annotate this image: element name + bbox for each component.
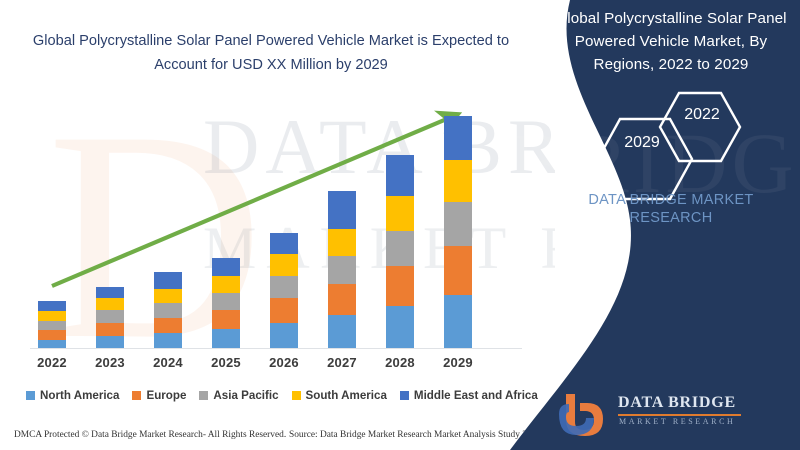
bar-segment [270, 298, 298, 322]
bar-segment [96, 310, 124, 322]
bar-2022 [38, 301, 66, 348]
x-axis-label-2023: 2023 [80, 355, 140, 370]
hexagon-group: 2029 2022 [595, 98, 775, 183]
legend-swatch-icon [26, 391, 35, 400]
stacked-bar-chart: 20222023202420252026202720282029 [0, 0, 545, 450]
bar-segment [444, 116, 472, 160]
bar-segment [212, 310, 240, 329]
x-axis-label-2029: 2029 [428, 355, 488, 370]
bar-segment [154, 289, 182, 303]
x-axis-label-2024: 2024 [138, 355, 198, 370]
bar-segment [444, 202, 472, 245]
legend-item-south-america[interactable]: South America [292, 389, 387, 402]
logo-b-mark-icon [556, 392, 614, 438]
bar-2023 [96, 287, 124, 348]
hexagon-2022-label: 2022 [672, 106, 732, 124]
legend-label: North America [40, 389, 119, 402]
bar-2026 [270, 233, 298, 348]
bar-segment [154, 303, 182, 318]
bar-segment [328, 191, 356, 229]
bar-segment [328, 315, 356, 348]
bar-segment [444, 295, 472, 348]
bar-segment [270, 233, 298, 255]
bar-segment [444, 246, 472, 296]
legend-label: Europe [146, 389, 186, 402]
x-axis-label-2022: 2022 [22, 355, 82, 370]
x-axis-label-2026: 2026 [254, 355, 314, 370]
bar-segment [38, 301, 66, 311]
x-axis-label-2027: 2027 [312, 355, 372, 370]
bar-segment [386, 266, 414, 305]
legend-swatch-icon [132, 391, 141, 400]
company-logo: DATA BRIDGE MARKET RESEARCH [556, 392, 756, 438]
legend-label: Middle East and Africa [414, 389, 538, 402]
logo-subtitle: MARKET RESEARCH [619, 417, 735, 426]
bar-2027 [328, 191, 356, 348]
legend-item-north-america[interactable]: North America [26, 389, 119, 402]
bar-segment [212, 258, 240, 276]
bar-segment [96, 287, 124, 298]
hexagon-2029-label: 2029 [612, 134, 672, 152]
legend-swatch-icon [199, 391, 208, 400]
bar-segment [38, 330, 66, 339]
bar-2024 [154, 272, 182, 348]
logo-underline [618, 414, 741, 416]
bar-segment [96, 323, 124, 336]
bar-segment [270, 276, 298, 299]
bar-segment [212, 329, 240, 348]
legend-item-middle-east-and-africa[interactable]: Middle East and Africa [400, 389, 538, 402]
footer-copyright: DMCA Protected © Data Bridge Market Rese… [14, 430, 286, 440]
bar-segment [270, 254, 298, 276]
bar-segment [328, 256, 356, 284]
logo-title: DATA BRIDGE [618, 394, 736, 412]
bar-segment [154, 333, 182, 348]
bar-segment [328, 284, 356, 315]
bar-segment [386, 231, 414, 267]
bar-2029 [444, 116, 472, 348]
x-axis-label-2025: 2025 [196, 355, 256, 370]
bar-2025 [212, 258, 240, 348]
bar-segment [154, 318, 182, 333]
panel-title: Global Polycrystalline Solar Panel Power… [552, 8, 790, 76]
legend-label: South America [306, 389, 387, 402]
hexagon-2022-icon [657, 90, 743, 164]
legend-swatch-icon [292, 391, 301, 400]
x-axis-label-2028: 2028 [370, 355, 430, 370]
bar-segment [96, 336, 124, 348]
panel-brand-line-2: RESEARCH [552, 208, 790, 229]
bar-segment [38, 340, 66, 348]
bar-segment [154, 272, 182, 289]
bar-segment [444, 160, 472, 202]
chart-legend: North AmericaEuropeAsia PacificSouth Ame… [26, 386, 536, 404]
bar-segment [386, 306, 414, 348]
bar-segment [212, 293, 240, 311]
bar-segment [38, 311, 66, 320]
bar-segment [96, 298, 124, 310]
legend-item-asia-pacific[interactable]: Asia Pacific [199, 389, 278, 402]
infographic-root: D DATA BRIDGE MARKET RESEARCH Global Pol… [0, 0, 800, 450]
bar-segment [212, 276, 240, 293]
bar-segment [38, 321, 66, 330]
legend-item-europe[interactable]: Europe [132, 389, 186, 402]
bar-2028 [386, 155, 414, 348]
bar-segment [328, 229, 356, 256]
footer-source: Source: Data Bridge Market Research Mark… [289, 430, 541, 440]
legend-swatch-icon [400, 391, 409, 400]
bar-segment [386, 196, 414, 231]
bar-segment [270, 323, 298, 348]
legend-label: Asia Pacific [213, 389, 278, 402]
bar-segment [386, 155, 414, 195]
